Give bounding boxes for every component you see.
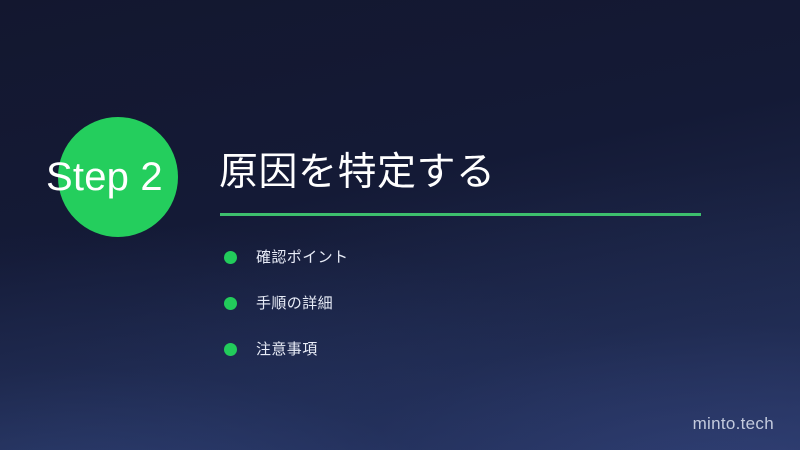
list-item: 確認ポイント [220,234,640,280]
title-divider [220,213,701,216]
list-item: 注意事項 [220,326,640,372]
bullet-dot-icon [224,297,237,310]
list-item: 手順の詳細 [220,280,640,326]
list-item-label: 注意事項 [256,340,318,359]
watermark-label: minto.tech [693,413,774,435]
slide-canvas: Step 2 原因を特定する 確認ポイント 手順の詳細 注意事項 minto.t… [0,0,800,450]
bullet-dot-icon [224,251,237,264]
list-item-label: 確認ポイント [256,248,348,267]
bullet-list: 確認ポイント 手順の詳細 注意事項 [220,234,640,372]
step-badge-label: Step 2 [46,150,206,204]
slide-title: 原因を特定する [219,147,496,199]
list-item-label: 手順の詳細 [256,294,333,313]
bullet-dot-icon [224,343,237,356]
